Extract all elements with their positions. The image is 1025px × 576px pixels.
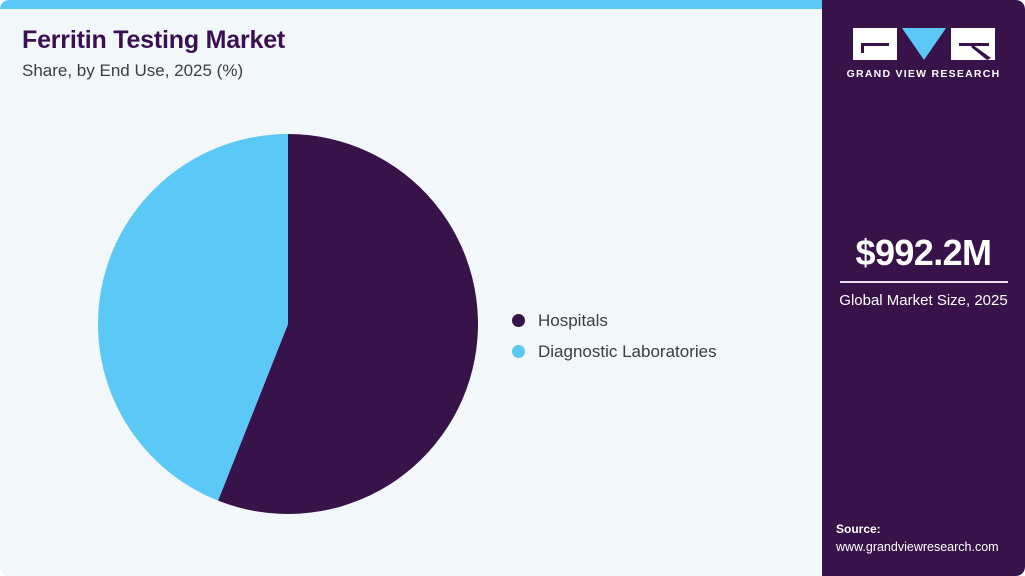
legend-item-diagnostic-laboratories[interactable]: Diagnostic Laboratories: [512, 336, 717, 367]
legend-color-dot-icon: [512, 345, 525, 358]
page-title: Ferritin Testing Market: [22, 26, 285, 55]
source-block: Source: www.grandviewresearch.com: [836, 520, 1017, 556]
top-accent-strip: [0, 0, 832, 9]
chart-legend: Hospitals Diagnostic Laboratories: [512, 305, 717, 367]
brand-logo: GRAND VIEW RESEARCH: [822, 28, 1025, 80]
chart-header: Ferritin Testing Market Share, by End Us…: [22, 26, 285, 82]
pie-chart: [98, 134, 478, 514]
logo-letter-g-icon: [853, 28, 897, 60]
infographic-root: Ferritin Testing Market Share, by End Us…: [0, 0, 1025, 576]
logo-wordmark: GRAND VIEW RESEARCH: [822, 68, 1025, 80]
market-size-caption: Global Market Size, 2025: [832, 291, 1015, 311]
brand-side-panel: GRAND VIEW RESEARCH $992.2M Global Marke…: [822, 0, 1025, 576]
legend-item-label: Hospitals: [538, 311, 608, 331]
legend-color-dot-icon: [512, 314, 525, 327]
logo-marks: [822, 28, 1025, 60]
legend-item-label: Diagnostic Laboratories: [538, 342, 717, 362]
source-url[interactable]: www.grandviewresearch.com: [836, 538, 1017, 556]
source-label: Source:: [836, 520, 1017, 538]
logo-letter-r-icon: [951, 28, 995, 60]
logo-letter-v-icon: [902, 28, 946, 60]
market-size-callout: $992.2M Global Market Size, 2025: [832, 234, 1015, 311]
market-size-value: $992.2M: [832, 234, 1015, 272]
callout-divider: [840, 281, 1008, 283]
chart-panel: Ferritin Testing Market Share, by End Us…: [0, 9, 822, 576]
page-subtitle: Share, by End Use, 2025 (%): [22, 60, 285, 82]
pie-chart-svg: [98, 134, 478, 514]
legend-item-hospitals[interactable]: Hospitals: [512, 305, 717, 336]
